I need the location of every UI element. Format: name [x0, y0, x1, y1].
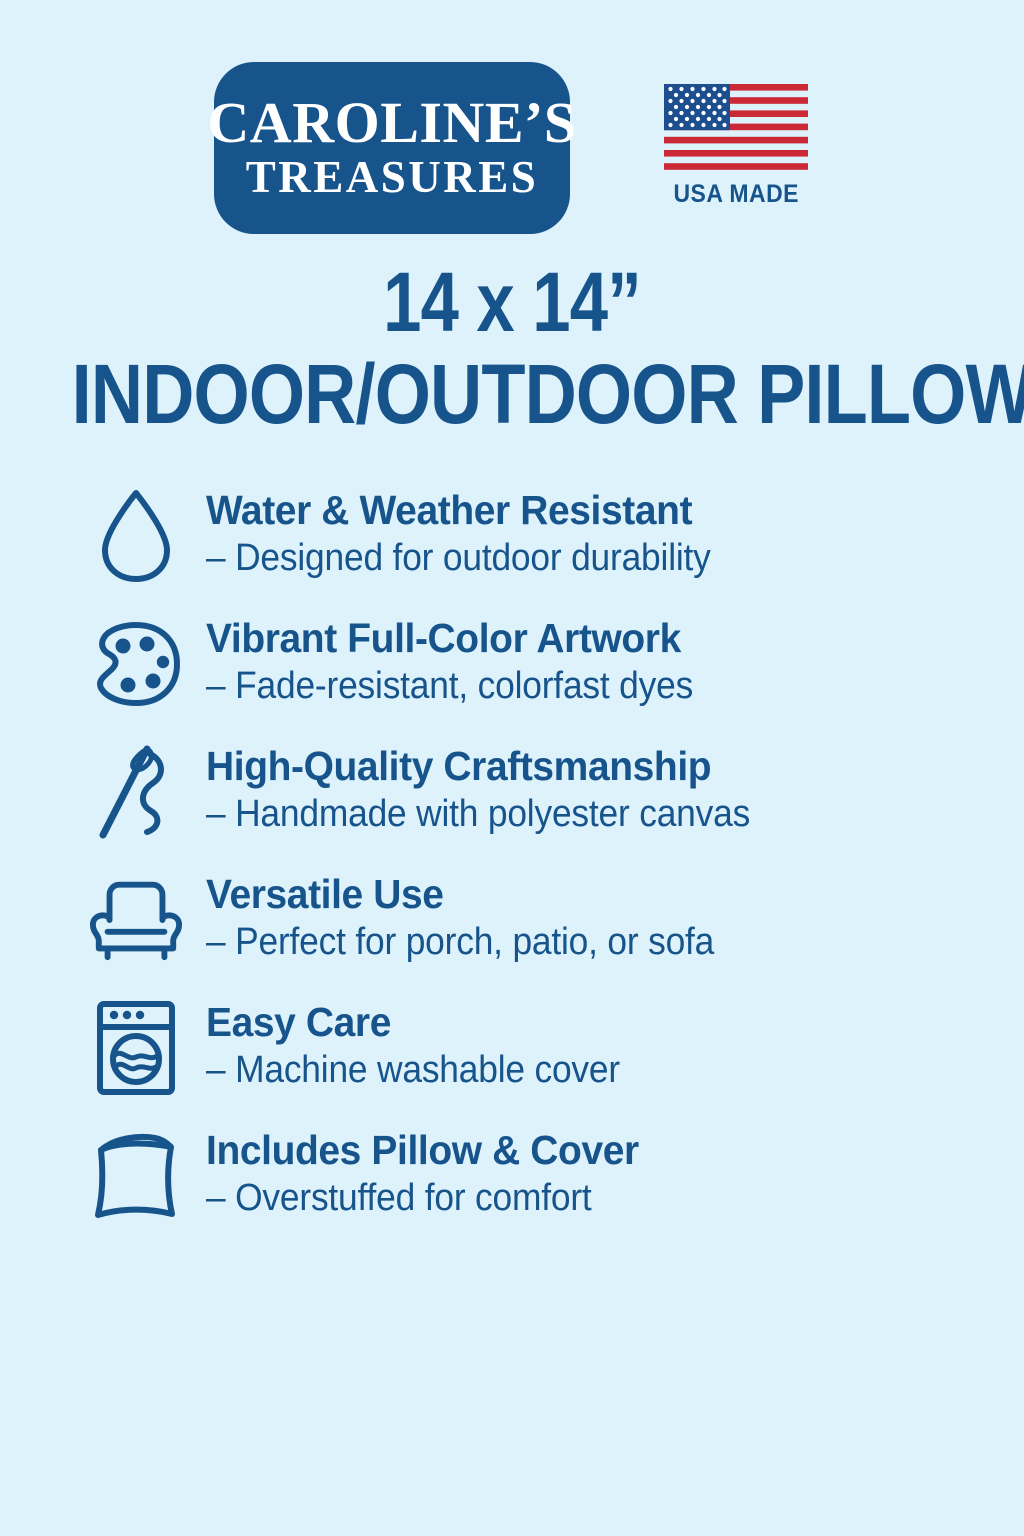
- water-droplet-icon: [88, 484, 184, 588]
- header: CAROLINE’S TREASURES: [0, 0, 1024, 234]
- product-infographic: CAROLINE’S TREASURES: [0, 0, 1024, 1536]
- brand-logo-line1: CAROLINE’S: [207, 94, 576, 152]
- feature-list: Water & Weather Resistant – Designed for…: [0, 484, 1024, 1228]
- feature-row: Water & Weather Resistant – Designed for…: [88, 484, 1024, 588]
- size-title: 14 x 14”: [92, 260, 932, 344]
- feature-subtitle: – Perfect for porch, patio, or sofa: [206, 921, 714, 964]
- feature-text: Easy Care – Machine washable cover: [206, 996, 651, 1092]
- feature-subtitle: – Machine washable cover: [206, 1049, 620, 1092]
- washing-machine-icon: [88, 996, 184, 1100]
- feature-title: Easy Care: [206, 1000, 629, 1046]
- brand-logo-line2: TREASURES: [246, 154, 539, 201]
- feature-text: Vibrant Full-Color Artwork – Fade-resist…: [206, 612, 730, 708]
- feature-subtitle: – Designed for outdoor durability: [206, 537, 711, 580]
- pillow-icon: [88, 1124, 184, 1228]
- usa-made-badge: USA MADE: [662, 62, 810, 209]
- feature-row: Vibrant Full-Color Artwork – Fade-resist…: [88, 612, 1024, 716]
- feature-row: Versatile Use – Perfect for porch, patio…: [88, 868, 1024, 972]
- armchair-icon: [88, 868, 184, 972]
- needle-and-thread-icon: [88, 740, 184, 844]
- feature-title: Vibrant Full-Color Artwork: [206, 616, 704, 662]
- feature-title: Includes Pillow & Cover: [206, 1128, 639, 1174]
- feature-title: High-Quality Craftsmanship: [206, 744, 762, 790]
- feature-title: Versatile Use: [206, 872, 725, 918]
- paint-palette-icon: [88, 612, 184, 716]
- usa-flag-icon: [664, 84, 808, 170]
- feature-row: Easy Care – Machine washable cover: [88, 996, 1024, 1100]
- feature-title: Water & Weather Resistant: [206, 488, 721, 534]
- feature-text: High-Quality Craftsmanship – Handmade wi…: [206, 740, 791, 836]
- feature-row: High-Quality Craftsmanship – Handmade wi…: [88, 740, 1024, 844]
- feature-subtitle: – Handmade with polyester canvas: [206, 793, 750, 836]
- feature-row: Includes Pillow & Cover – Overstuffed fo…: [88, 1124, 1024, 1228]
- usa-made-label: USA MADE: [673, 180, 799, 209]
- title-block: 14 x 14” INDOOR/OUTDOOR PILLOW: [0, 260, 1024, 438]
- feature-text: Versatile Use – Perfect for porch, patio…: [206, 868, 752, 964]
- feature-text: Water & Weather Resistant – Designed for…: [206, 484, 749, 580]
- feature-subtitle: – Overstuffed for comfort: [206, 1177, 630, 1220]
- brand-logo-badge: CAROLINE’S TREASURES: [214, 62, 570, 234]
- feature-text: Includes Pillow & Cover – Overstuffed fo…: [206, 1124, 662, 1220]
- product-title: INDOOR/OUTDOOR PILLOW: [72, 352, 953, 438]
- feature-subtitle: – Fade-resistant, colorfast dyes: [206, 665, 693, 708]
